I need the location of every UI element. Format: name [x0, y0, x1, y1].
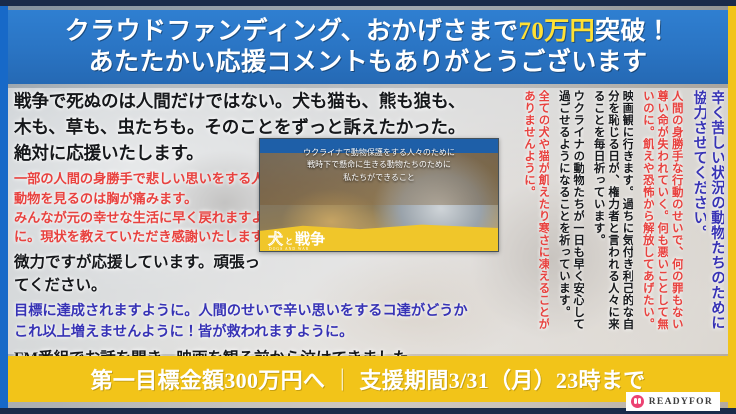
thumbnail-overlay-line-1: ウクライナで動物保護をする人々のために: [260, 147, 498, 159]
comment-headline-line-2: 木も、草も、虫たちも。そのことをずっと訴えたかった。: [14, 116, 506, 139]
comment-headline-line-1: 戦争で死ぬのは人間だけではない。犬も猫も、熊も狼も、: [14, 90, 506, 113]
vertical-line-9: 過ごせるようになることを祈っています。: [557, 90, 569, 342]
project-thumbnail[interactable]: ウクライナで動物保護をする人々のために 戦時下で懸命に生きる動物たちのために 私…: [259, 138, 499, 252]
headline-line-2: あたたかい応援コメントもありがとうございます: [89, 47, 648, 78]
vertical-line-6: 分を恥じる日が、権力者と言われる人々に来: [607, 90, 619, 342]
vertical-line-1: 協力させてください。: [691, 90, 707, 342]
comment-black1-line-2: てください。: [14, 276, 506, 296]
vertical-line-4: いのに。飢えや恐怖から解放してあげたい。: [641, 90, 653, 342]
cta-text: 第一目標金額300万円へ｜支援期間3/31（月）23時まで: [91, 363, 646, 395]
cta-support-period: 支援期間3/31（月）23時まで: [360, 368, 646, 393]
thumbnail-title-badge: 犬 と 戦争: [268, 228, 325, 249]
headline-amount-highlight: 70万円: [518, 18, 595, 45]
badge-particle: と: [285, 236, 293, 247]
thumbnail-overlay-line-2: 戦時下で懸命に生きる動物たちのために: [260, 159, 498, 171]
frame-border-top: [0, 0, 736, 6]
badge-kanji-dog: 犬: [268, 228, 283, 249]
headline-prefix: クラウドファンディング、おかげさまで: [65, 18, 519, 45]
vertical-line-8: ウクライナの動物たちが一日も早く安心して: [572, 90, 584, 342]
cta-banner[interactable]: 第一目標金額300万円へ｜支援期間3/31（月）23時まで: [8, 356, 728, 402]
badge-subtitle: DOGS AND WAR: [269, 247, 309, 251]
vertical-comments-column: 辛く苦しい状況の動物たちのために 協力させてください。 人間の身勝手な行動のせい…: [510, 90, 724, 342]
readyfor-logo[interactable]: READYFOR: [626, 392, 720, 411]
vertical-line-7: ることを毎日祈っています。: [592, 90, 604, 342]
vertical-line-10: 全ての犬や猫が飢えたり寒さに凍えることが: [537, 90, 549, 342]
headline-line-1: クラウドファンディング、おかげさまで70万円突破！: [65, 16, 672, 47]
thumbnail-overlay-text: ウクライナで動物保護をする人々のために 戦時下で懸命に生きる動物たちのために 私…: [260, 147, 498, 184]
comment-blue-line-2: これ以上増えませんように！皆が救われますように。: [14, 324, 506, 342]
headline-suffix: 突破！: [595, 18, 671, 45]
comment-blue-line-1: 目標に達成されますように。人間のせいで辛い思いをするコ達がどうか: [14, 303, 506, 321]
vertical-line-2: 人間の身勝手な行動のせいで、何の罪もない: [670, 90, 682, 342]
readyfor-wordmark: READYFOR: [649, 397, 713, 407]
cta-goal-amount: 第一目標金額300万円へ: [91, 368, 326, 393]
readyfor-mark-icon: [631, 395, 644, 408]
promo-banner: クラウドファンディング、おかげさまで70万円突破！ あたたかい応援コメントもあり…: [0, 0, 736, 414]
vertical-line-3: 尊い命が失われていく。何も悪いことして無: [656, 90, 668, 342]
cta-separator: ｜: [325, 368, 359, 393]
headline-banner: クラウドファンディング、おかげさまで70万円突破！ あたたかい応援コメントもあり…: [8, 10, 728, 84]
vertical-line-0: 辛く苦しい状況の動物たちのために: [708, 90, 724, 342]
comment-black1-line-1: 微力ですが応援しています。頑張っ: [14, 253, 506, 273]
vertical-line-5: 映画観に行きます。過ちに気付き利己的な自: [621, 90, 633, 342]
thumbnail-overlay-line-3: 私たちができること: [260, 172, 498, 184]
frame-border-left: [0, 0, 8, 414]
frame-border-right: [728, 0, 736, 414]
badge-kanji-war: 戦争: [295, 228, 325, 249]
vertical-line-11: ありませんように。: [523, 90, 535, 342]
